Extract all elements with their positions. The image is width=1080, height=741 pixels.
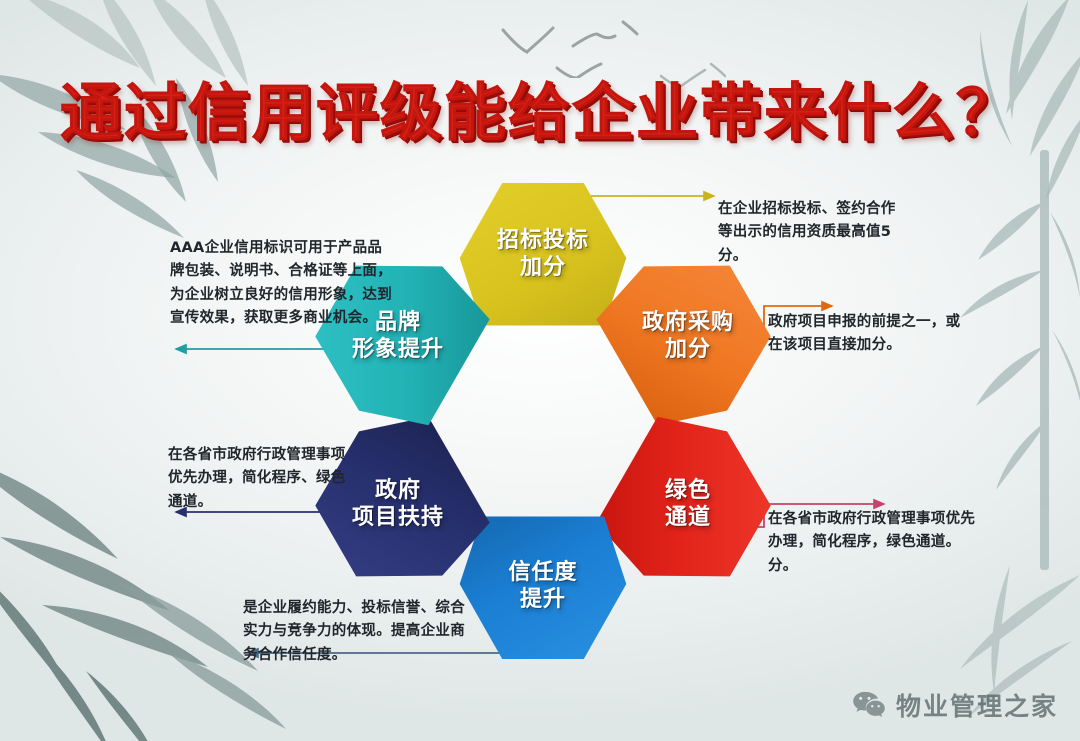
segment-brand-label-line2: 形象提升 <box>352 338 444 363</box>
wechat-icon <box>852 690 886 720</box>
segment-bid-label-line2: 加分 <box>520 256 566 281</box>
segment-bid-label-line1: 招标投标 <box>497 229 589 254</box>
note-trust: 是企业履约能力、投标信誉、综合实力与竞争力的体现。提高企业商务合作信任度。 <box>243 597 478 667</box>
infographic-poster: 通过信用评级能给企业带来什么？ <box>0 0 1080 741</box>
footer-watermark: 物业管理之家 <box>852 687 1058 723</box>
segment-gov-purchase-label-line2: 加分 <box>665 338 711 363</box>
note-gov-purchase: 政府项目申报的前提之一，或在该项目直接加分。 <box>768 311 968 358</box>
segment-gov-purchase-label-line1: 政府采购 <box>642 311 734 336</box>
bamboo-stalk-right-icon <box>912 150 1080 570</box>
footer-account-name: 物业管理之家 <box>896 687 1058 723</box>
poster-title-container: 通过信用评级能给企业带来什么？ <box>0 62 1080 152</box>
page-title: 通过信用评级能给企业带来什么？ <box>60 62 1020 152</box>
note-gov-support: 在各省市政府行政管理事项优先办理，简化程序、绿色通道。 <box>168 444 358 514</box>
note-brand: AAA企业信用标识可用于产品品牌包装、说明书、合格证等上面，为企业树立良好的信用… <box>170 237 392 331</box>
segment-trust-label-line2: 提升 <box>520 588 566 613</box>
segment-green-channel-label-line2: 通道 <box>665 506 711 531</box>
segment-gov-support-label-line1: 政府 <box>375 479 421 504</box>
segment-trust-label-line1: 信任度 <box>508 561 577 586</box>
segment-gov-purchase-caption: 政府采购 加分 <box>603 262 773 412</box>
note-green-channel: 在各省市政府行政管理事项优先办理，简化程序，绿色通道。分。 <box>768 508 982 578</box>
note-bid: 在企业招标投标、签约合作等出示的信用资质最高值5分。 <box>718 198 903 268</box>
segment-green-channel-caption: 绿色 通道 <box>603 430 773 580</box>
segment-gov-support-label-line2: 项目扶持 <box>352 506 444 531</box>
segment-green-channel-label-line1: 绿色 <box>665 479 711 504</box>
